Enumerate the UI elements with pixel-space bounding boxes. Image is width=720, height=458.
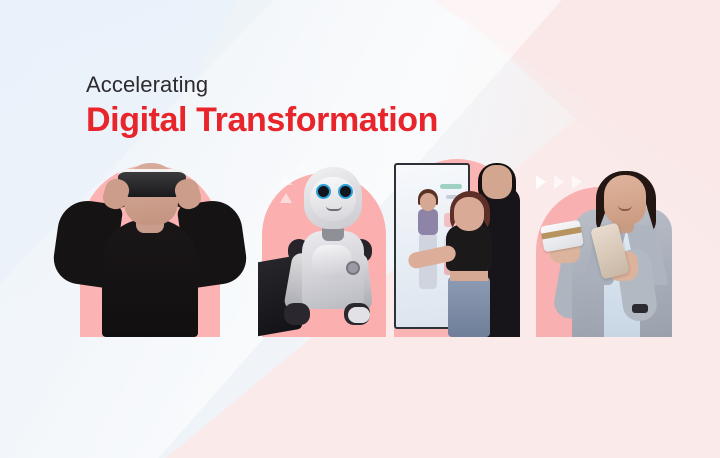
photo-vr-headset-woman [50, 147, 250, 337]
panel-vr-headset-woman [50, 147, 250, 337]
panel-humanoid-robot [258, 147, 390, 337]
wristwatch-icon [632, 304, 648, 313]
man-head [482, 165, 512, 199]
triangle-marker-icon [280, 175, 292, 185]
headline-block: Accelerating Digital Transformation [86, 72, 438, 140]
triangle-marker-icon [280, 193, 292, 203]
robot-eye-right [338, 184, 353, 199]
robot-fingers [348, 307, 370, 323]
headline-eyebrow: Accelerating [86, 72, 438, 98]
play-arrow-icon [572, 175, 582, 189]
woman-head [454, 197, 484, 231]
robot-hand-left [284, 303, 310, 325]
screen-ui-chip [440, 184, 462, 189]
robot-mouth [326, 206, 342, 211]
panel-mobile-payment-woman [528, 141, 686, 337]
triangle-marker-icon [296, 161, 308, 171]
play-arrow-icon [554, 175, 564, 189]
photo-humanoid-robot [258, 147, 390, 337]
banner-hero: Accelerating Digital Transformation [0, 0, 720, 458]
woman-jeans [448, 277, 490, 337]
play-arrow-icon [536, 175, 546, 189]
robot-shoulder-joint [346, 261, 360, 275]
robot-eye-left [316, 184, 331, 199]
robot-chest-plate [312, 245, 352, 279]
credit-card-magstripe [541, 227, 581, 240]
photo-interactive-display [392, 147, 522, 337]
robot-face [310, 177, 356, 221]
photo-mobile-payment-woman [528, 141, 686, 337]
vr-torso [102, 219, 198, 337]
headline-title: Digital Transformation [86, 100, 438, 140]
bw-head [604, 175, 646, 225]
screen-avatar-top [418, 209, 438, 235]
photo-panel-row [0, 0, 720, 458]
panel-interactive-display [392, 147, 522, 337]
screen-avatar-head [420, 193, 436, 211]
figure-vr-user [50, 147, 250, 337]
